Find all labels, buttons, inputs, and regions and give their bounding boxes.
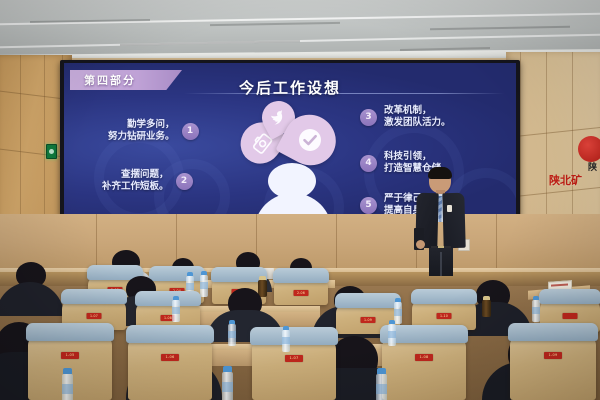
wall-sign-partial-text: 陕 [588, 160, 597, 173]
checkmark-icon [297, 127, 323, 153]
chair[interactable]: 1-09 [510, 336, 596, 400]
emergency-exit-sign [46, 144, 57, 159]
presenter-hand [416, 240, 425, 249]
section-tag-label: 第四部分 [84, 72, 136, 88]
slide-center-graphic [240, 101, 346, 215]
chair[interactable]: 1-08 [382, 338, 466, 400]
water-bottle [388, 320, 396, 346]
water-bottle [222, 366, 233, 400]
chair[interactable]: 1-06 [128, 338, 212, 400]
wall-sign-red-text: 陕北矿 [549, 172, 582, 188]
slide-item-2: 查摆问题， 补齐工作短板。 2 [102, 169, 193, 193]
bird-icon [269, 108, 288, 127]
water-bottle [172, 296, 180, 322]
water-bottle [282, 326, 290, 352]
slide-item-1-text: 勤学多问， 努力钻研业务。 [108, 119, 175, 143]
presenter [412, 168, 468, 276]
water-bottle [532, 296, 540, 322]
slide-item-1-number: 1 [182, 123, 199, 140]
beverage-bottle [482, 296, 491, 317]
slide-item-3-number: 3 [360, 109, 377, 126]
ceiling-light-strip [0, 34, 600, 49]
slide-item-5-number: 5 [360, 197, 377, 214]
conference-room-photo: 陕 陕北矿 今后工作设想 第四部分 勤学多问， 努力钻研业务。 1 [0, 0, 600, 400]
slide-item-3: 3 改革机制， 激发团队活力。 [360, 105, 451, 129]
presenter-badge [447, 205, 452, 212]
slide-item-2-number: 2 [176, 173, 193, 190]
slide-item-2-text: 查摆问题， 补齐工作短板。 [102, 169, 169, 193]
water-bottle [228, 320, 236, 346]
presenter-trousers [429, 248, 453, 276]
water-bottle [376, 368, 387, 400]
chair[interactable]: 2-06 [274, 279, 328, 305]
chair[interactable]: 1-07 [252, 340, 336, 400]
company-logo-icon [578, 136, 600, 162]
slide-item-1: 勤学多问， 努力钻研业务。 1 [108, 119, 199, 143]
beverage-bottle [258, 276, 267, 297]
section-tag: 第四部分 [70, 70, 182, 90]
water-bottle [200, 271, 208, 297]
ceiling-seam [430, 26, 570, 30]
presenter-jacket-right [442, 193, 465, 249]
presenter-hair [428, 167, 452, 179]
water-bottle [62, 368, 73, 400]
slide-item-3-text: 改革机制， 激发团队活力。 [384, 105, 451, 129]
person-body-shape [254, 193, 332, 215]
ceiling-seam [210, 22, 340, 26]
slide-item-4-number: 4 [360, 155, 377, 172]
